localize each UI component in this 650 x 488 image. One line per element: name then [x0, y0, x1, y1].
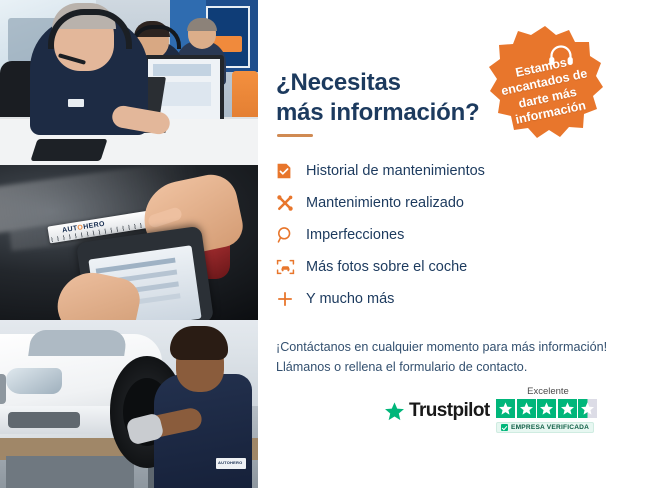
check-icon: [501, 424, 508, 431]
contact-paragraph: ¡Contáctanos en cualquier momento para m…: [276, 337, 626, 378]
trustpilot-rating-label: Excelente: [496, 386, 600, 397]
star-filled: [496, 399, 515, 418]
air-vent-decor: [8, 412, 80, 428]
car-inspection-ruler-photo: AUTOHERO: [0, 165, 258, 320]
help-badge: Estamos encantados de darte más informac…: [486, 24, 604, 142]
page-title-line-2: más información?: [276, 99, 480, 126]
feature-label: Mantenimiento realizado: [306, 195, 464, 211]
trustpilot-stars: [496, 399, 600, 418]
trustpilot-wordmark: Trustpilot: [409, 400, 490, 422]
star-filled: [558, 399, 577, 418]
verified-company-badge: EMPRESA VERIFICADA: [496, 422, 594, 433]
desk-tablet-decor: [30, 139, 107, 161]
trustpilot-widget[interactable]: Trustpilot Excelente: [384, 386, 600, 448]
star-filled: [537, 399, 556, 418]
call-center-agents-photo: [0, 0, 258, 165]
feature-item-maintenance-done: Mantenimiento realizado: [276, 187, 576, 219]
headlight-decor: [6, 368, 62, 394]
cabinet-decor: [6, 456, 134, 488]
mechanic-wheel-photo: [0, 320, 258, 488]
feature-label: Historial de mantenimientos: [306, 163, 485, 179]
page-title: ¿Necesitasmás información?: [276, 68, 516, 128]
grille-decor: [0, 374, 6, 404]
car-photo-frame-icon: [276, 256, 306, 278]
verified-company-label: EMPRESA VERIFICADA: [511, 424, 589, 431]
title-underline-accent: [277, 134, 313, 137]
content-panel: ¿Necesitasmás información? Estamos encan…: [258, 0, 650, 488]
tools-cross-icon: [276, 192, 306, 214]
feature-label: Y mucho más: [306, 291, 394, 307]
page-title-line-1: ¿Necesitas: [276, 69, 401, 96]
windshield-decor: [28, 330, 128, 356]
feature-item-much-more: Y mucho más: [276, 283, 576, 315]
agent-name-tag-decor: [68, 99, 84, 107]
star-half: [578, 399, 597, 418]
feature-item-imperfections: Imperfecciones: [276, 219, 576, 251]
feature-item-maintenance-history: Historial de mantenimientos: [276, 155, 576, 187]
contact-line-1: ¡Contáctanos en cualquier momento para m…: [276, 340, 607, 354]
contact-line-2: Llámanos o rellena el formulario de cont…: [276, 360, 527, 374]
mechanic-hair-decor: [170, 326, 228, 360]
photo-collage: AUTOHERO: [0, 0, 258, 488]
maintenance-history-icon: [276, 160, 306, 182]
information-banner: AUTOHERO: [0, 0, 650, 488]
plus-icon: [276, 288, 306, 310]
feature-label: Imperfecciones: [306, 227, 404, 243]
feature-label: Más fotos sobre el coche: [306, 259, 467, 275]
trustpilot-rating: Excelente: [496, 386, 600, 436]
feature-item-more-photos: Más fotos sobre el coche: [276, 251, 576, 283]
star-filled: [517, 399, 536, 418]
feature-list: Historial de mantenimientos Mantenimient…: [276, 155, 576, 315]
magnifier-icon: [276, 224, 306, 246]
trustpilot-logo[interactable]: Trustpilot: [384, 400, 490, 422]
autohero-uniform-logo: [216, 458, 246, 469]
trustpilot-star-icon: [384, 401, 405, 422]
